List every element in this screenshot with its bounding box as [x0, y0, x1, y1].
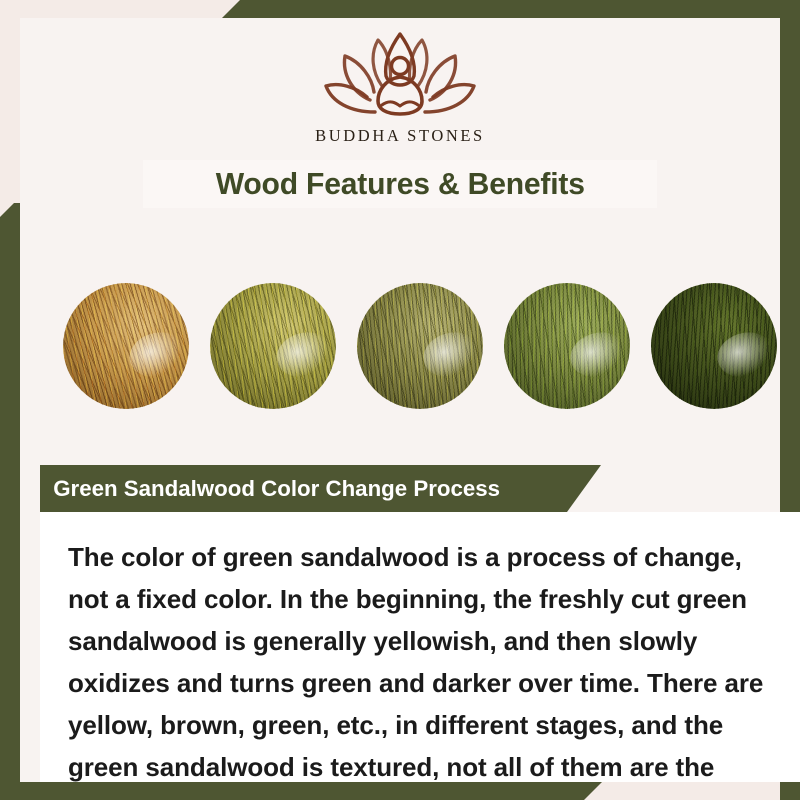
bead-item: [63, 283, 189, 409]
bead-item: [357, 283, 483, 409]
section-banner-row: Green Sandalwood Color Change Process: [40, 465, 800, 512]
section-banner: Green Sandalwood Color Change Process: [40, 465, 601, 512]
frame-left-accent: [0, 203, 20, 800]
content-card: BUDDHA STONES Wood Features & Benefits: [20, 18, 780, 782]
bead-item: [210, 283, 336, 409]
lotus-meditation-icon: [312, 26, 488, 124]
bead-item: [504, 283, 630, 409]
section-body-text: The color of green sandalwood is a proce…: [40, 512, 800, 800]
brand-name: BUDDHA STONES: [20, 126, 780, 146]
section-title: Green Sandalwood Color Change Process: [42, 476, 500, 502]
frame-top-accent: [222, 0, 800, 18]
bead-gallery: [40, 268, 800, 424]
brand-logo: BUDDHA STONES: [20, 26, 780, 146]
page-title: Wood Features & Benefits: [215, 166, 584, 202]
section-body-panel: The color of green sandalwood is a proce…: [40, 512, 800, 782]
poster-root: BUDDHA STONES Wood Features & Benefits: [0, 0, 800, 800]
page-title-band: Wood Features & Benefits: [143, 160, 657, 208]
bead-item: [651, 283, 777, 409]
